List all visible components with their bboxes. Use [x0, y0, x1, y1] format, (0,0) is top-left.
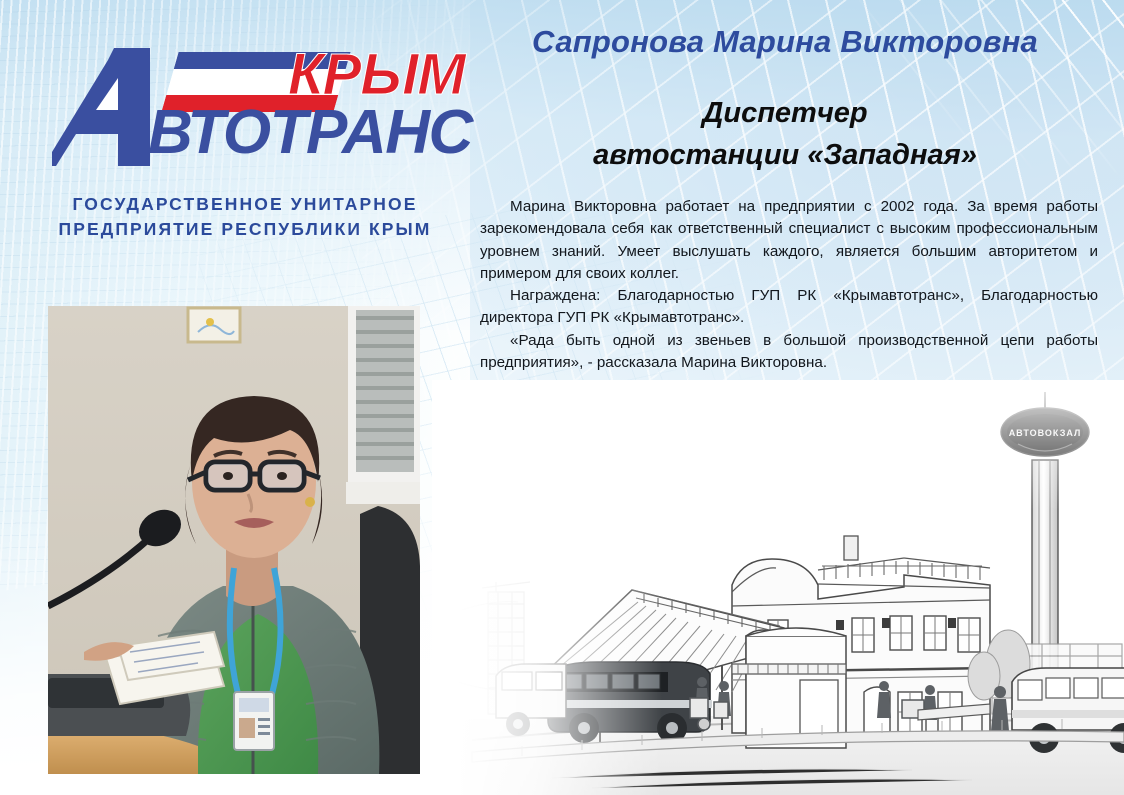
tower-sign-text: АВТОВОКЗАЛ [1009, 428, 1082, 438]
logo-subtitle-line1: ГОСУДАРСТВЕННОЕ УНИТАРНОЕ [55, 192, 435, 217]
job-title-line1: Диспетчер [470, 92, 1100, 134]
portrait-photo [48, 306, 420, 774]
page-title: Сапронова Марина Викторовна [470, 24, 1100, 60]
logo-subtitle: ГОСУДАРСТВЕННОЕ УНИТАРНОЕ ПРЕДПРИЯТИЕ РЕ… [55, 192, 435, 242]
bus-station-illustration: АВТОВОКЗАЛ [432, 380, 1124, 795]
body-paragraph-2: Награждена: Благодарностью ГУП РК «Крыма… [480, 285, 1098, 330]
logo-text-avtotrans: ВТОТРАНС [148, 102, 472, 164]
logo-text-krym: КРЫМ [288, 46, 465, 104]
slide-canvas: КРЫМ ВТОТРАНС ГОСУДАРСТВЕННОЕ УНИТАРНОЕ … [0, 0, 1124, 795]
logo-subtitle-line2: ПРЕДПРИЯТИЕ РЕСПУБЛИКИ КРЫМ [55, 217, 435, 242]
portrait-photo-image [48, 306, 420, 774]
job-title-line2: автостанции «Западная» [470, 134, 1100, 176]
company-logo: КРЫМ ВТОТРАНС ГОСУДАРСТВЕННОЕ УНИТАРНОЕ … [52, 40, 432, 185]
job-title: Диспетчер автостанции «Западная» [470, 92, 1100, 176]
body-text: Марина Викторовна работает на предприяти… [480, 196, 1098, 374]
logo-mark: КРЫМ ВТОТРАНС [52, 40, 427, 185]
bus-station-illustration-image: АВТОВОКЗАЛ [432, 380, 1124, 795]
body-paragraph-1: Марина Викторовна работает на предприяти… [480, 196, 1098, 285]
body-paragraph-3: «Рада быть одной из звеньев в большой пр… [480, 330, 1098, 375]
